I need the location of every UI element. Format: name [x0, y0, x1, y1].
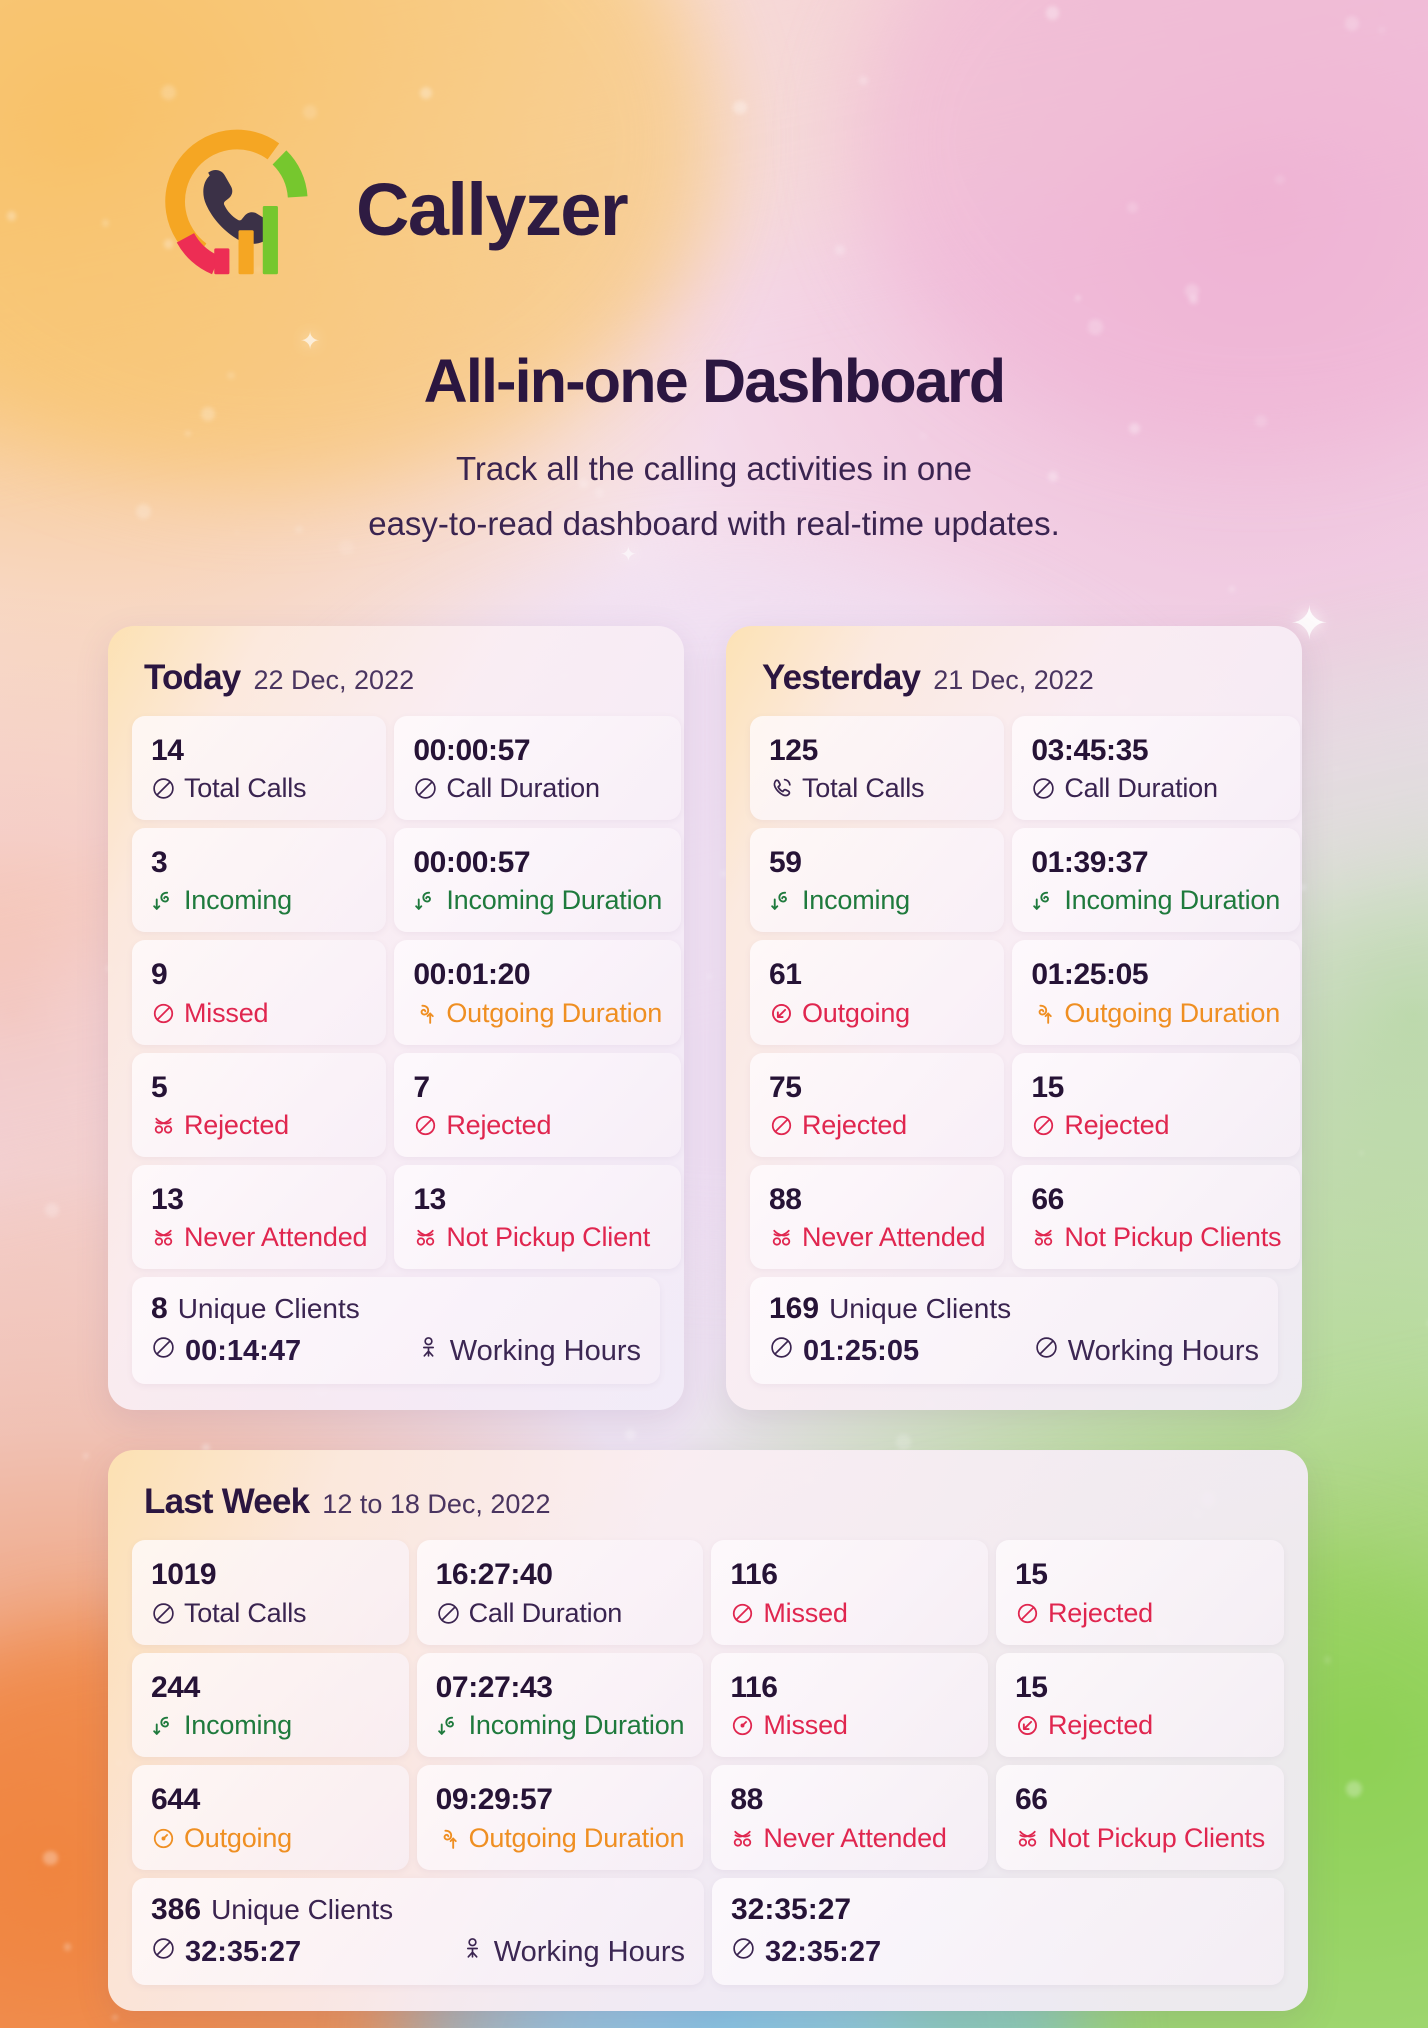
incoming-icon — [413, 888, 438, 913]
incoming-icon — [769, 888, 794, 913]
last-week-card-date: 12 to 18 Dec, 2022 — [322, 1489, 550, 1520]
stat-label-row: Missed — [730, 1598, 969, 1629]
yesterday-unique-clients-label: Unique Clients — [829, 1293, 1011, 1325]
stat-value: 66 — [1015, 1782, 1265, 1817]
stat-value: 88 — [769, 1182, 985, 1217]
stat-value: 09:29:57 — [436, 1782, 685, 1817]
rejected-icon — [769, 1225, 794, 1250]
outgoing-alt-icon — [769, 1001, 794, 1026]
last-week-summary-row: 386 Unique Clients 32:35:27 Worki — [132, 1878, 1284, 1985]
stat-label-row: Incoming — [151, 885, 367, 916]
page-subtitle-line-1: Track all the calling activities in one — [456, 450, 972, 487]
stat-label-row: Incoming Duration — [436, 1710, 685, 1741]
last-week-unique-clients-label: Unique Clients — [211, 1894, 393, 1926]
rejected-icon — [151, 1113, 176, 1138]
stat-tile: 00:00:57Incoming Duration — [394, 828, 681, 932]
stat-label-row: Never Attended — [151, 1222, 367, 1253]
outgoing-icon — [1031, 1001, 1056, 1026]
stat-value: 116 — [730, 1557, 969, 1592]
stat-label: Incoming — [184, 885, 292, 916]
stat-label: Never Attended — [184, 1222, 367, 1253]
clock-icon — [151, 1335, 176, 1368]
stat-tile: 01:25:05Outgoing Duration — [1012, 940, 1300, 1044]
stat-label-row: Outgoing — [151, 1823, 390, 1854]
person-icon — [460, 1936, 485, 1969]
stat-label: Rejected — [446, 1110, 551, 1141]
stat-label-row: Rejected — [413, 1110, 662, 1141]
yesterday-card-date: 21 Dec, 2022 — [933, 665, 1094, 696]
stat-label-row: Not Pickup Clients — [1031, 1222, 1281, 1253]
last-week-extra-value-row: 32:35:27 — [731, 1893, 1265, 1927]
stat-label-row: Missed — [730, 1710, 969, 1741]
stat-label: Rejected — [1048, 1598, 1153, 1629]
stat-value: 03:45:35 — [1031, 733, 1281, 768]
stat-value: 14 — [151, 733, 367, 768]
stat-tile: 13Never Attended — [132, 1165, 386, 1269]
stat-tile: 244Incoming — [132, 1653, 409, 1757]
yesterday-unique-clients: 169 Unique Clients — [769, 1292, 1259, 1326]
clock-icon — [413, 776, 438, 801]
stat-tile: 116Missed — [711, 1540, 988, 1644]
stat-label: Call Duration — [446, 773, 599, 804]
stat-label-row: Outgoing Duration — [436, 1823, 685, 1854]
stat-tile: 3Incoming — [132, 828, 386, 932]
today-card: Today 22 Dec, 2022 14Total Calls00:00:57… — [108, 626, 684, 1411]
brand-name: Callyzer — [356, 167, 627, 252]
last-week-extra-duration: 32:35:27 — [731, 1936, 881, 1969]
today-working-hours: Working Hours — [416, 1335, 641, 1368]
stat-label-row: Rejected — [1015, 1598, 1265, 1629]
stat-tile: 125Total Calls — [750, 716, 1004, 820]
stat-label: Outgoing Duration — [469, 1823, 685, 1854]
last-week-card: Last Week 12 to 18 Dec, 2022 1019Total C… — [108, 1450, 1308, 2010]
stat-label-row: Incoming Duration — [1031, 885, 1281, 916]
stat-tile: 15Rejected — [996, 1653, 1284, 1757]
last-week-working-hours-label: Working Hours — [494, 1936, 685, 1969]
person-icon — [416, 1335, 441, 1368]
incoming-icon — [151, 1713, 176, 1738]
stat-value: 13 — [151, 1182, 367, 1217]
page-subtitle-line-2: easy-to-read dashboard with real-time up… — [368, 505, 1060, 542]
today-total-duration: 00:14:47 — [151, 1335, 301, 1368]
clock-icon — [731, 1936, 756, 1969]
rejected-icon — [730, 1826, 755, 1851]
stat-label: Missed — [184, 998, 268, 1029]
today-unique-clients-value: 8 — [151, 1292, 168, 1326]
missed-icon — [413, 1113, 438, 1138]
missed-icon — [730, 1601, 755, 1626]
stat-value: 15 — [1015, 1557, 1265, 1592]
stat-value: 61 — [769, 957, 985, 992]
incoming-icon — [1031, 888, 1056, 913]
stat-value: 07:27:43 — [436, 1670, 685, 1705]
stat-label: Not Pickup Client — [446, 1222, 650, 1253]
stat-label-row: Rejected — [1031, 1110, 1281, 1141]
phone-icon — [769, 776, 794, 801]
incoming-icon — [151, 888, 176, 913]
today-stats-grid: 14Total Calls00:00:57Call Duration3Incom… — [132, 716, 660, 1270]
stat-value: 15 — [1015, 1670, 1265, 1705]
last-week-working-hours: Working Hours — [460, 1936, 685, 1969]
yesterday-card-title: Yesterday — [762, 658, 920, 698]
missed-dot-icon — [151, 1826, 176, 1851]
last-week-summary-tile: 386 Unique Clients 32:35:27 Worki — [132, 1878, 704, 1985]
stat-label: Call Duration — [1064, 773, 1217, 804]
stat-label: Total Calls — [184, 773, 306, 804]
stat-tile: 61Outgoing — [750, 940, 1004, 1044]
today-summary-bottom: 00:14:47 Working Hours — [151, 1335, 641, 1368]
stat-value: 7 — [413, 1070, 662, 1105]
page-subtitle: Track all the calling activities in one … — [108, 442, 1320, 552]
last-week-card-title: Last Week — [144, 1482, 309, 1522]
stat-label-row: Not Pickup Clients — [1015, 1823, 1265, 1854]
stat-label-row: Rejected — [1015, 1710, 1265, 1741]
stat-label: Not Pickup Clients — [1048, 1823, 1265, 1854]
last-week-total-duration: 32:35:27 — [151, 1936, 301, 1969]
stat-tile: 75Rejected — [750, 1053, 1004, 1157]
stat-value: 66 — [1031, 1182, 1281, 1217]
last-week-extra-bottom: 32:35:27 — [731, 1936, 1265, 1969]
stat-tile: 88Never Attended — [711, 1765, 988, 1869]
stat-label: Never Attended — [802, 1222, 985, 1253]
stat-value: 59 — [769, 845, 985, 880]
stat-tile: 66Not Pickup Clients — [1012, 1165, 1300, 1269]
last-week-unique-clients: 386 Unique Clients — [151, 1893, 685, 1927]
stat-tile: 59Incoming — [750, 828, 1004, 932]
today-card-header: Today 22 Dec, 2022 — [132, 652, 660, 716]
last-week-extra-value: 32:35:27 — [731, 1893, 851, 1927]
stat-value: 3 — [151, 845, 367, 880]
today-card-date: 22 Dec, 2022 — [253, 665, 414, 696]
yesterday-working-hours: Working Hours — [1034, 1335, 1259, 1368]
yesterday-card-header: Yesterday 21 Dec, 2022 — [750, 652, 1278, 716]
last-week-extra-duration-value: 32:35:27 — [765, 1936, 881, 1969]
stat-tile: 116Missed — [711, 1653, 988, 1757]
clock-icon — [151, 776, 176, 801]
stat-value: 16:27:40 — [436, 1557, 685, 1592]
outgoing-alt-icon — [1015, 1713, 1040, 1738]
stat-value: 01:25:05 — [1031, 957, 1281, 992]
stat-label-row: Outgoing — [769, 998, 985, 1029]
stat-label-row: Call Duration — [413, 773, 662, 804]
stat-tile: 66Not Pickup Clients — [996, 1765, 1284, 1869]
stat-value: 244 — [151, 1670, 390, 1705]
stat-label-row: Never Attended — [730, 1823, 969, 1854]
stat-tile: 09:29:57Outgoing Duration — [417, 1765, 704, 1869]
stat-tile: 00:00:57Call Duration — [394, 716, 681, 820]
stat-tile: 7Rejected — [394, 1053, 681, 1157]
stat-value: 116 — [730, 1670, 969, 1705]
yesterday-summary-tile: 169 Unique Clients 01:25:05 Worki — [750, 1277, 1278, 1384]
stat-label: Incoming — [184, 1710, 292, 1741]
stat-tile: 00:01:20Outgoing Duration — [394, 940, 681, 1044]
last-week-card-header: Last Week 12 to 18 Dec, 2022 — [132, 1476, 1284, 1540]
stat-label-row: Rejected — [151, 1110, 367, 1141]
stat-label: Total Calls — [184, 1598, 306, 1629]
stat-tile: 13Not Pickup Client — [394, 1165, 681, 1269]
yesterday-unique-clients-value: 169 — [769, 1292, 819, 1326]
rejected-icon — [1015, 1826, 1040, 1851]
stat-tile: 644Outgoing — [132, 1765, 409, 1869]
stat-label-row: Total Calls — [151, 1598, 390, 1629]
stat-label-row: Total Calls — [769, 773, 985, 804]
stat-value: 13 — [413, 1182, 662, 1217]
stat-tile: 88Never Attended — [750, 1165, 1004, 1269]
stat-label: Incoming Duration — [1064, 885, 1280, 916]
page-title: All-in-one Dashboard — [108, 346, 1320, 416]
stat-value: 5 — [151, 1070, 367, 1105]
last-week-extra-summary-tile: 32:35:27 32:35:27 — [712, 1878, 1284, 1985]
today-working-hours-label: Working Hours — [450, 1335, 641, 1368]
stat-label: Rejected — [802, 1110, 907, 1141]
stat-value: 15 — [1031, 1070, 1281, 1105]
missed-icon — [769, 1113, 794, 1138]
today-total-duration-value: 00:14:47 — [185, 1335, 301, 1368]
stat-value: 00:01:20 — [413, 957, 662, 992]
rejected-icon — [1031, 1225, 1056, 1250]
stat-label: Rejected — [1048, 1710, 1153, 1741]
yesterday-stats-grid: 125Total Calls03:45:35Call Duration59Inc… — [750, 716, 1278, 1270]
stat-value: 00:00:57 — [413, 845, 662, 880]
stat-label-row: Call Duration — [436, 1598, 685, 1629]
clock-icon — [1034, 1335, 1059, 1368]
stat-label: Total Calls — [802, 773, 924, 804]
clock-icon — [436, 1601, 461, 1626]
today-unique-clients-label: Unique Clients — [178, 1293, 360, 1325]
stat-tile: 14Total Calls — [132, 716, 386, 820]
stat-label: Missed — [763, 1598, 847, 1629]
last-week-unique-clients-value: 386 — [151, 1893, 201, 1927]
clock-icon — [151, 1936, 176, 1969]
stat-label-row: Not Pickup Client — [413, 1222, 662, 1253]
stat-label: Call Duration — [469, 1598, 622, 1629]
stat-label-row: Outgoing Duration — [413, 998, 662, 1029]
stat-value: 9 — [151, 957, 367, 992]
stat-label-row: Total Calls — [151, 773, 367, 804]
clock-icon — [151, 1601, 176, 1626]
stat-label-row: Missed — [151, 998, 367, 1029]
stat-label-row: Incoming — [769, 885, 985, 916]
yesterday-total-duration-value: 01:25:05 — [803, 1335, 919, 1368]
stat-label: Not Pickup Clients — [1064, 1222, 1281, 1253]
stat-tile: 16:27:40Call Duration — [417, 1540, 704, 1644]
callyzer-logo-icon — [146, 118, 328, 300]
last-week-stats-grid: 1019Total Calls16:27:40Call Duration116M… — [132, 1540, 1284, 1869]
incoming-icon — [436, 1713, 461, 1738]
stat-value: 644 — [151, 1782, 390, 1817]
stat-label: Rejected — [1064, 1110, 1169, 1141]
stat-value: 125 — [769, 733, 985, 768]
rejected-icon — [413, 1225, 438, 1250]
stat-tile: 1019Total Calls — [132, 1540, 409, 1644]
stat-label-row: Incoming Duration — [413, 885, 662, 916]
stat-tile: 9Missed — [132, 940, 386, 1044]
stat-label-row: Call Duration — [1031, 773, 1281, 804]
summary-cards-row: Today 22 Dec, 2022 14Total Calls00:00:57… — [108, 626, 1320, 1411]
outgoing-icon — [413, 1001, 438, 1026]
clock-icon — [769, 1335, 794, 1368]
stat-label-row: Never Attended — [769, 1222, 985, 1253]
yesterday-summary-bottom: 01:25:05 Working Hours — [769, 1335, 1259, 1368]
stat-tile: 03:45:35Call Duration — [1012, 716, 1300, 820]
yesterday-working-hours-label: Working Hours — [1068, 1335, 1259, 1368]
stat-label: Rejected — [184, 1110, 289, 1141]
stat-label-row: Rejected — [769, 1110, 985, 1141]
missed-icon — [1015, 1601, 1040, 1626]
yesterday-card: Yesterday 21 Dec, 2022 125Total Calls03:… — [726, 626, 1302, 1411]
today-card-title: Today — [144, 658, 240, 698]
stat-label: Incoming Duration — [446, 885, 662, 916]
stat-label: Missed — [763, 1710, 847, 1741]
stat-value: 01:39:37 — [1031, 845, 1281, 880]
clock-icon — [1031, 776, 1056, 801]
rejected-icon — [151, 1225, 176, 1250]
today-unique-clients: 8 Unique Clients — [151, 1292, 641, 1326]
yesterday-total-duration: 01:25:05 — [769, 1335, 919, 1368]
stat-value: 75 — [769, 1070, 985, 1105]
stat-label-row: Outgoing Duration — [1031, 998, 1281, 1029]
stat-label-row: Incoming — [151, 1710, 390, 1741]
stat-tile: 01:39:37Incoming Duration — [1012, 828, 1300, 932]
stat-label: Incoming Duration — [469, 1710, 685, 1741]
stat-value: 1019 — [151, 1557, 390, 1592]
stat-tile: 15Rejected — [1012, 1053, 1300, 1157]
stat-value: 00:00:57 — [413, 733, 662, 768]
stat-label: Outgoing Duration — [446, 998, 662, 1029]
stat-label: Outgoing Duration — [1064, 998, 1280, 1029]
stat-tile: 15Rejected — [996, 1540, 1284, 1644]
stat-label: Outgoing — [802, 998, 910, 1029]
brand-logo: Callyzer — [108, 0, 1320, 300]
stat-label: Never Attended — [763, 1823, 946, 1854]
stat-label: Incoming — [802, 885, 910, 916]
last-week-total-duration-value: 32:35:27 — [185, 1936, 301, 1969]
stat-label: Outgoing — [184, 1823, 292, 1854]
missed-dot-icon — [730, 1713, 755, 1738]
missed-icon — [151, 1001, 176, 1026]
outgoing-icon — [436, 1826, 461, 1851]
stat-tile: 5Rejected — [132, 1053, 386, 1157]
last-week-summary-bottom: 32:35:27 Working Hours — [151, 1936, 685, 1969]
stat-value: 88 — [730, 1782, 969, 1817]
stat-tile: 07:27:43Incoming Duration — [417, 1653, 704, 1757]
missed-icon — [1031, 1113, 1056, 1138]
today-summary-tile: 8 Unique Clients 00:14:47 Working — [132, 1277, 660, 1384]
